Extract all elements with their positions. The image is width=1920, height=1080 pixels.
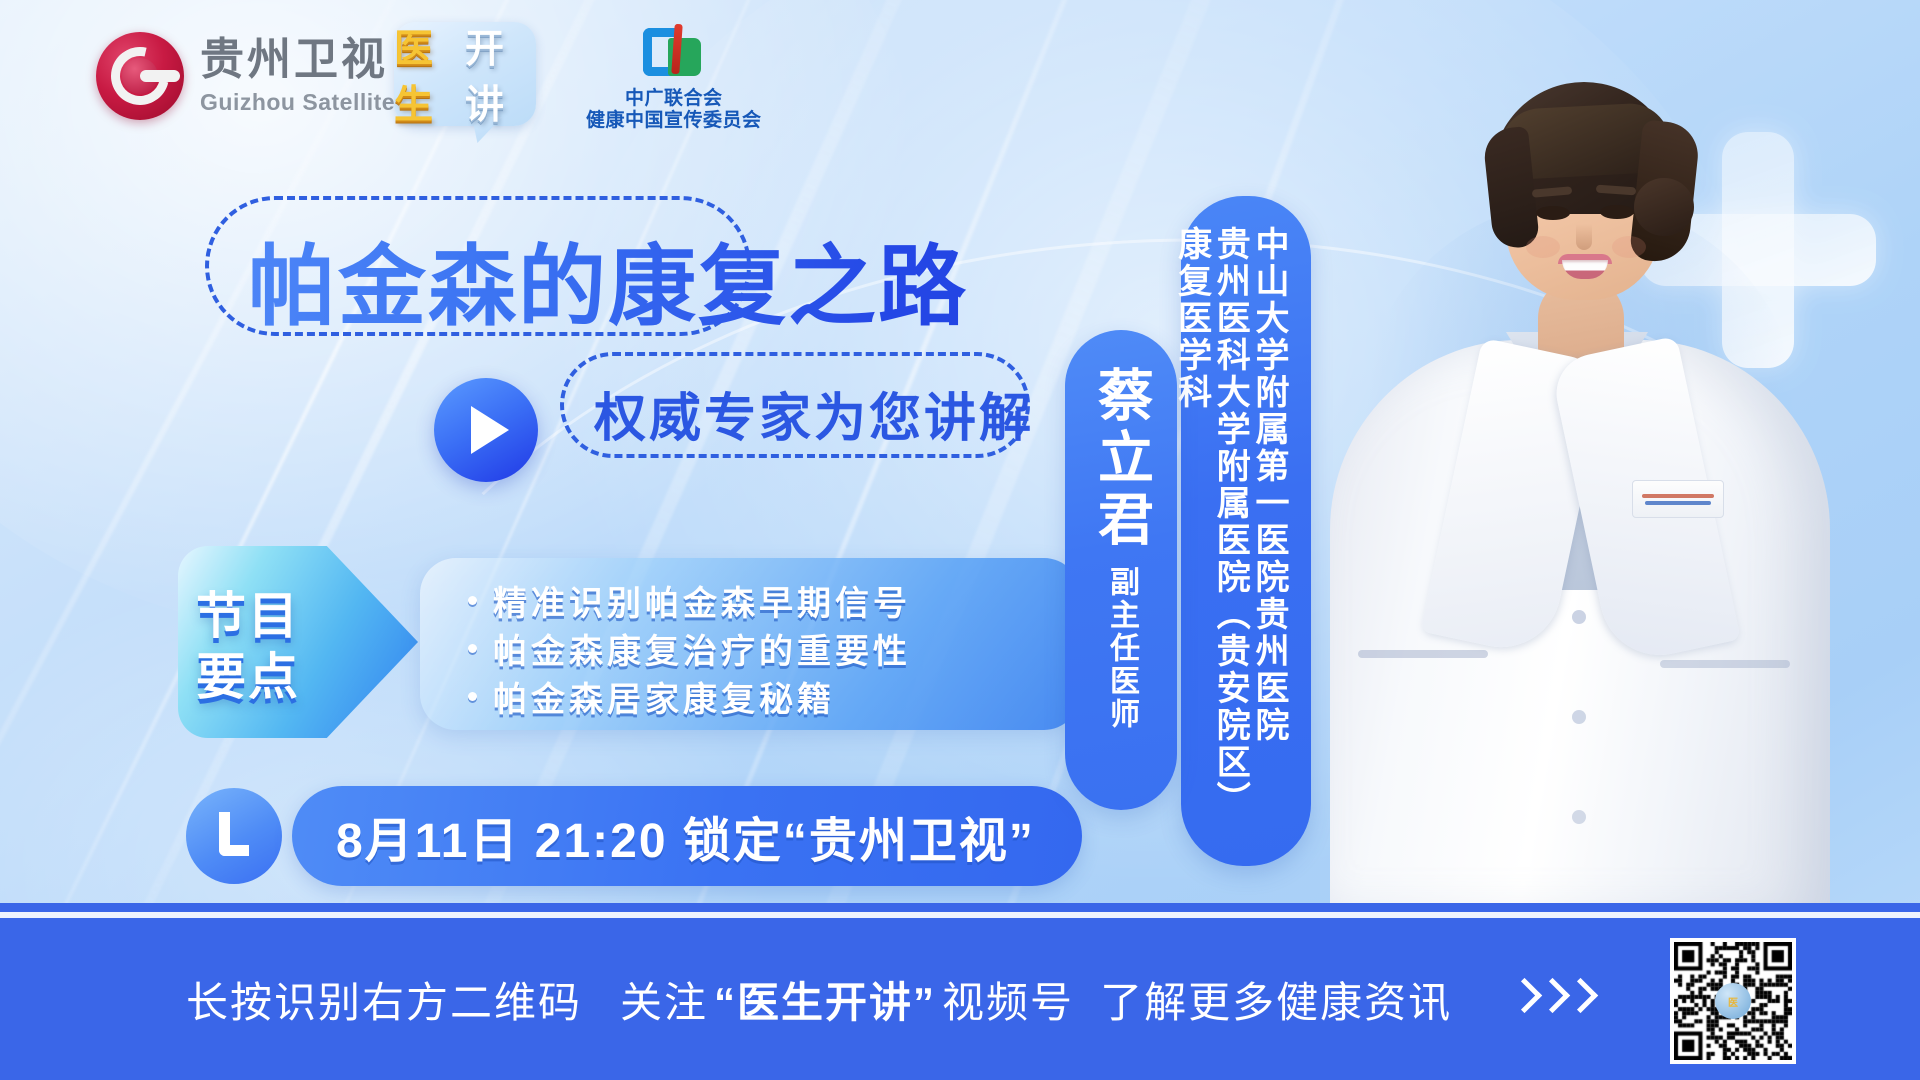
play-button[interactable] (434, 378, 538, 482)
poster-root: 贵州卫视 Guizhou Satellite TV 医生开讲 中广联合会 健康中… (0, 0, 1920, 1080)
schedule-banner: 8月11日 21:20 锁定“贵州卫视” (292, 786, 1082, 886)
bullet-dot-icon (468, 644, 477, 653)
footer-text: 长按识别右方二维码 关注 “医生开讲” 视频号 了解更多健康资讯 (186, 969, 1588, 1030)
association-name: 中广联合会 健康中国宣传委员会 (586, 88, 762, 133)
footer-text-part2: 关注 (620, 969, 708, 1030)
cheek-left (1526, 236, 1560, 258)
association-logo: 中广联合会 健康中国宣传委员会 (586, 24, 762, 133)
chevron-right-icon (1566, 980, 1588, 1018)
coat-pocket-right (1660, 660, 1790, 668)
bullet-dot-icon (468, 596, 477, 605)
chevron-right-icon (1510, 980, 1532, 1018)
association-name-line2: 健康中国宣传委员会 (586, 110, 762, 132)
eye-right (1600, 205, 1634, 219)
footer-text-part3: 视频号 (942, 969, 1074, 1030)
list-item: 帕金森康复治疗的重要性 (468, 626, 1080, 670)
doctor-affiliation-line: 贵州医科大学附属医院（贵安院区） (1212, 226, 1249, 818)
channel-logo: 贵州卫视 Guizhou Satellite TV (96, 32, 432, 120)
footer-separator (0, 903, 1920, 912)
footer-text-part1: 长按识别右方二维码 (186, 969, 582, 1030)
doctor-affiliation-panel: 中山大学附属第一医院贵州医院 贵州医科大学附属医院（贵安院区） 康复医学科 (1181, 196, 1311, 866)
coat-button (1572, 810, 1586, 824)
list-item-label: 帕金森康复治疗的重要性 (493, 624, 911, 673)
list-item: 帕金森居家康复秘籍 (468, 674, 1080, 718)
doctor-name: 蔡立君 (1092, 366, 1149, 552)
program-logo-text-part2: 开讲 (465, 18, 536, 130)
coat-button (1572, 710, 1586, 724)
association-name-line1: 中广联合会 (586, 88, 762, 110)
corner-glyph (219, 812, 249, 856)
hospital-badge-icon (1632, 480, 1724, 518)
program-logo-text-part1: 医生 (394, 18, 465, 130)
qr-center-logo: 医 (1715, 983, 1751, 1019)
highlights-card: 精准识别帕金森早期信号 帕金森康复治疗的重要性 帕金森居家康复秘籍 (420, 558, 1080, 730)
eye-left (1536, 206, 1570, 220)
doctor-name-panel: 蔡立君 副主任医师 (1065, 330, 1177, 810)
cheek-right (1612, 236, 1646, 258)
doctor-affiliation-line: 中山大学附属第一医院贵州医院 (1250, 226, 1287, 744)
list-item-label: 精准识别帕金森早期信号 (493, 576, 911, 625)
list-item: 精准识别帕金森早期信号 (468, 578, 1080, 622)
guizhou-tv-logo-icon (96, 32, 184, 120)
highlights-label: 节目 要点 (196, 586, 346, 708)
play-triangle-icon (471, 406, 509, 454)
doctor-title: 副主任医师 (1099, 566, 1143, 731)
page-subtitle: 权威专家为您讲解 (594, 376, 1034, 451)
logo-bar (140, 70, 180, 82)
china-broadcast-association-logo-icon (643, 24, 705, 84)
page-title: 帕金森的康复之路 (248, 216, 1168, 343)
program-logo-text: 医生开讲 (394, 22, 536, 126)
nose (1576, 224, 1592, 250)
chevron-right-icons (1510, 980, 1588, 1018)
schedule-text: 8月11日 21:20 锁定“贵州卫视” (336, 801, 1035, 871)
coat-button (1572, 610, 1586, 624)
doctor-affiliation-line: 康复医学科 (1173, 226, 1210, 411)
footer-text-part4: 了解更多健康资讯 (1100, 969, 1452, 1030)
list-item-label: 帕金森居家康复秘籍 (493, 672, 835, 721)
highlights-label-line2: 要点 (196, 647, 346, 708)
doctor-portrait (1300, 10, 1860, 910)
program-logo: 医生开讲 (394, 22, 536, 126)
hair-bun (1634, 178, 1694, 236)
footer-bar: 长按识别右方二维码 关注 “医生开讲” 视频号 了解更多健康资讯 (0, 918, 1920, 1080)
footer-quoted-program: “医生开讲” (714, 969, 936, 1030)
bullet-dot-icon (468, 692, 477, 701)
qr-code-icon[interactable]: 医 (1670, 938, 1796, 1064)
coat-pocket-left (1358, 650, 1488, 658)
chevron-right-icon (1538, 980, 1560, 1018)
tv-corner-icon (186, 788, 282, 884)
highlights-label-line1: 节目 (196, 586, 346, 647)
